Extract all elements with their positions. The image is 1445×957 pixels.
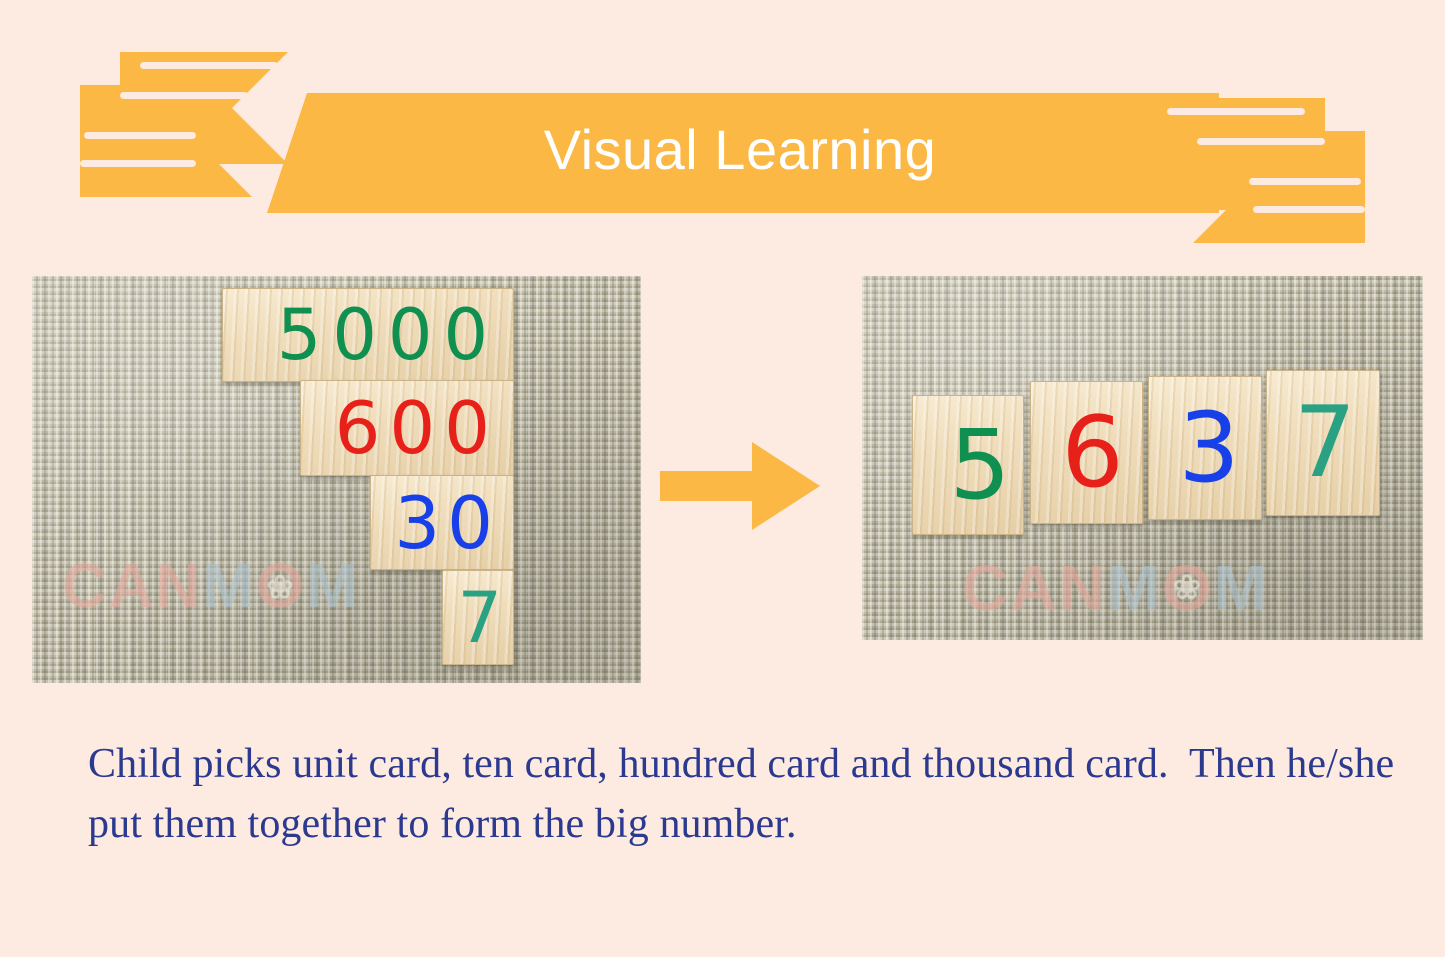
card-hundreds[interactable]: 600 xyxy=(300,380,514,476)
banner-graphics xyxy=(0,0,1445,262)
maple-leaf-icon: ❀ xyxy=(1173,571,1203,604)
maple-leaf-icon: ❀ xyxy=(267,570,296,602)
stacked-card-3[interactable]: 3 xyxy=(1148,376,1262,520)
canmom-watermark: CANMO❀M xyxy=(962,556,1269,620)
stacked-card-5-value: 5 xyxy=(949,417,1010,513)
stacked-card-6[interactable]: 6 xyxy=(1030,381,1143,524)
stacked-card-5[interactable]: 5 xyxy=(912,395,1024,535)
photo-combined-cards: CANMO❀M 5 6 3 7 xyxy=(862,276,1423,640)
watermark-can: CAN xyxy=(62,552,202,621)
card-thousands-value: 5000 xyxy=(277,300,499,370)
card-thousands[interactable]: 5000 xyxy=(222,288,514,382)
canmom-watermark: CANMO❀M xyxy=(62,556,360,618)
stacked-card-6-value: 6 xyxy=(1061,404,1123,502)
card-units[interactable]: 7 xyxy=(442,570,514,665)
watermark-m1: M xyxy=(202,552,256,621)
stacked-card-3-value: 3 xyxy=(1178,400,1239,496)
watermark-o: O❀ xyxy=(1162,552,1214,624)
photo-separate-cards: CANMO❀M 5000 600 30 7 xyxy=(32,276,641,683)
header-banner: Visual Learning xyxy=(0,0,1445,262)
banner-band xyxy=(267,93,1219,213)
card-tens-value: 30 xyxy=(394,487,500,559)
card-tens[interactable]: 30 xyxy=(370,475,514,570)
watermark-m2: M xyxy=(1214,552,1269,624)
watermark-m1: M xyxy=(1107,552,1162,624)
card-hundreds-value: 600 xyxy=(335,392,499,464)
watermark-can: CAN xyxy=(962,552,1107,624)
stacked-card-7[interactable]: 7 xyxy=(1266,370,1380,516)
watermark-m2: M xyxy=(306,552,360,621)
right-arrow-icon xyxy=(660,442,820,530)
watermark-o: O❀ xyxy=(256,552,306,621)
stacked-card-7-value: 7 xyxy=(1294,394,1356,492)
card-units-value: 7 xyxy=(457,583,502,653)
caption-text: Child picks unit card, ten card, hundred… xyxy=(88,735,1413,854)
left-ribbon-tail xyxy=(80,52,288,197)
slide-canvas: Visual Learning CANMO❀M 5000 600 30 7 xyxy=(0,0,1445,957)
